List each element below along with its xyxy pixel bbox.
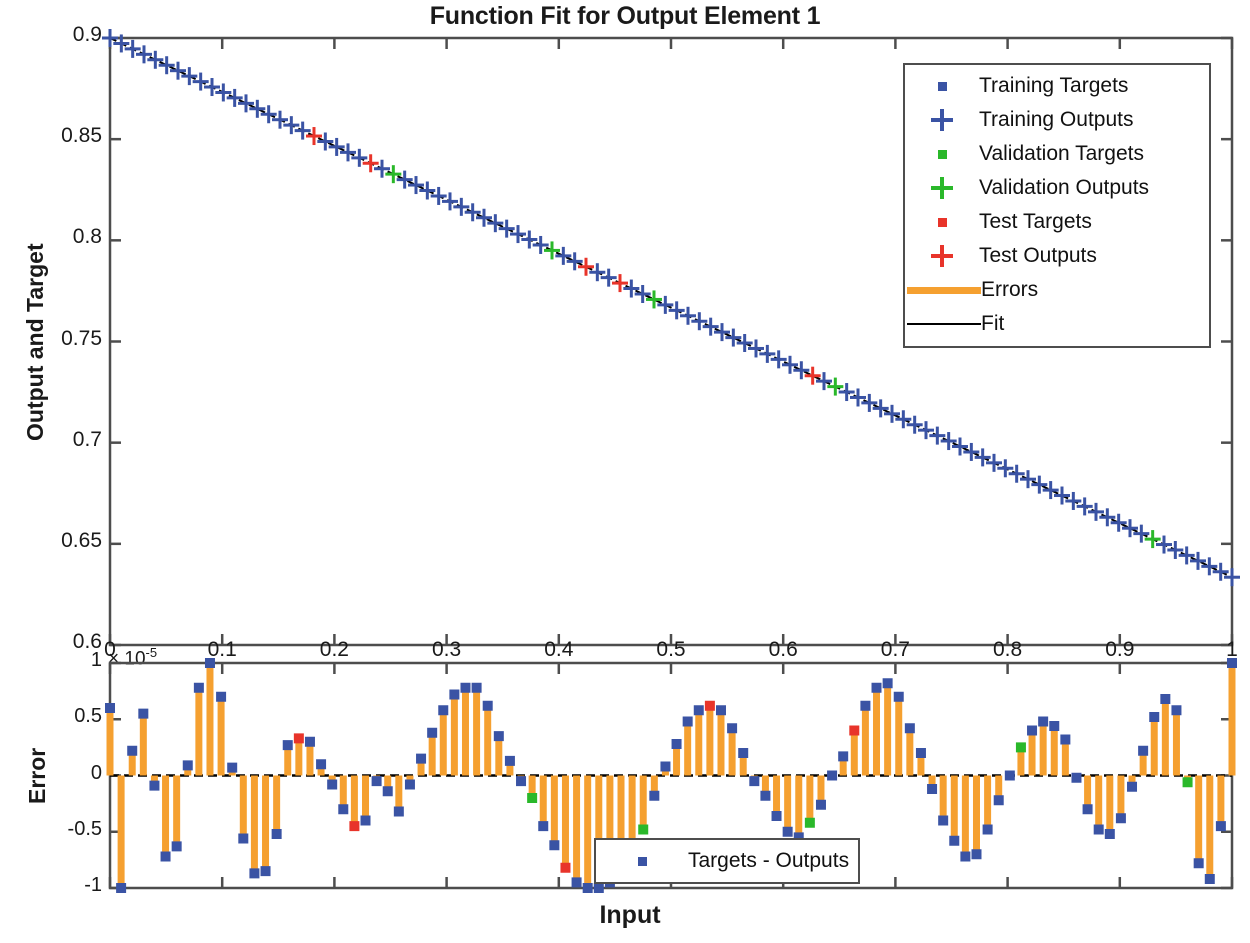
error-bar xyxy=(916,748,926,776)
square-marker-icon xyxy=(938,82,947,91)
error-bar xyxy=(738,748,748,776)
error-ytick--1: -1 xyxy=(6,874,102,897)
input-xtick-0.4: 0.4 xyxy=(519,638,599,662)
error-ytick-0.5: 0.5 xyxy=(6,705,102,728)
error-bar xyxy=(749,776,759,787)
figure-canvas: Function Fit for Output Element 1 Output… xyxy=(0,0,1250,943)
error-bar xyxy=(894,692,904,776)
legend-label: Targets - Outputs xyxy=(688,849,849,873)
error-bar xyxy=(794,776,804,843)
error-bar xyxy=(460,683,470,776)
error-bar xyxy=(983,776,993,835)
error-bar xyxy=(560,776,570,873)
legend-item-targets-outputs[interactable]: Targets - Outputs xyxy=(596,840,858,882)
error-bar xyxy=(938,776,948,826)
error-bar xyxy=(161,776,171,862)
error-bar xyxy=(361,776,371,826)
legend-item-test-targets[interactable]: Test Targets xyxy=(905,205,1209,239)
input-xtick-0.9: 0.9 xyxy=(1080,638,1160,662)
error-bar xyxy=(172,776,182,852)
error-bar xyxy=(472,683,482,776)
error-ytick-0: 0 xyxy=(6,762,102,785)
input-xtick-1: 1 xyxy=(1192,638,1250,662)
legend-item-training-targets[interactable]: Training Targets xyxy=(905,69,1209,103)
error-bar xyxy=(183,760,193,775)
error-bar xyxy=(883,678,893,775)
legend-symbol xyxy=(905,109,979,131)
legend-label: Fit xyxy=(981,312,1004,336)
error-bar xyxy=(772,776,782,822)
error-bar xyxy=(860,701,870,776)
plus-marker-icon xyxy=(931,177,953,199)
error-bar xyxy=(971,776,981,860)
thick-line-icon xyxy=(907,287,981,294)
error-bar xyxy=(383,776,393,797)
error-bar xyxy=(1194,776,1204,869)
error-bar xyxy=(449,690,459,776)
error-bar xyxy=(1227,658,1237,776)
error-bar xyxy=(1138,746,1148,776)
error-bar xyxy=(816,776,826,810)
error-bar xyxy=(516,776,526,787)
input-xtick-0: 0 xyxy=(70,638,150,662)
plus-marker-icon xyxy=(931,109,953,131)
error-bar xyxy=(227,763,237,776)
plus-vertical xyxy=(940,109,944,131)
error-bar xyxy=(872,683,882,776)
legend-symbol xyxy=(905,82,979,91)
error-bar xyxy=(994,776,1004,806)
error-bar xyxy=(238,776,248,844)
legend-symbol xyxy=(905,177,979,199)
error-bar xyxy=(261,776,271,877)
error-bar xyxy=(660,762,670,776)
error-bar xyxy=(649,776,659,801)
error-bar xyxy=(127,746,137,776)
main-ytick-0.7: 0.7 xyxy=(0,428,102,452)
error-bar xyxy=(527,776,537,804)
error-bar xyxy=(349,776,359,832)
error-bar xyxy=(394,776,404,817)
error-bar xyxy=(760,776,770,801)
error-bar xyxy=(272,776,282,840)
legend-item-errors[interactable]: Errors xyxy=(905,273,1209,307)
error-bar xyxy=(583,776,593,894)
error-bar xyxy=(305,737,315,776)
plus-vertical xyxy=(940,177,944,199)
error-bar xyxy=(1127,776,1137,792)
error-bar xyxy=(105,703,115,776)
error-bar xyxy=(1027,726,1037,776)
legend-label: Training Targets xyxy=(979,74,1128,98)
error-bar xyxy=(1071,773,1081,783)
square-marker-icon xyxy=(938,218,947,227)
input-xtick-0.8: 0.8 xyxy=(968,638,1048,662)
error-bar xyxy=(416,754,426,776)
error-bar xyxy=(716,705,726,775)
error-bar xyxy=(1116,776,1126,824)
square-marker-icon xyxy=(938,150,947,159)
square-marker-icon xyxy=(638,857,647,866)
input-xtick-0.3: 0.3 xyxy=(407,638,487,662)
error-bar xyxy=(149,776,159,791)
error-bar xyxy=(572,776,582,888)
error-bar xyxy=(483,701,493,776)
input-xtick-0.1: 0.1 xyxy=(182,638,262,662)
legend-item-validation-outputs[interactable]: Validation Outputs xyxy=(905,171,1209,205)
error-bar xyxy=(1216,776,1226,832)
input-xtick-0.5: 0.5 xyxy=(631,638,711,662)
error-bar xyxy=(1038,717,1048,776)
error-bar xyxy=(960,776,970,862)
error-bar xyxy=(672,739,682,776)
error-bar xyxy=(338,776,348,815)
error-bar xyxy=(372,776,382,787)
main-ytick-0.75: 0.75 xyxy=(0,327,102,351)
error-bar xyxy=(638,776,648,835)
legend-label: Test Outputs xyxy=(979,244,1097,268)
error-bar xyxy=(1149,712,1159,776)
error-bar xyxy=(216,692,226,776)
error-bar xyxy=(705,701,715,776)
legend-label: Validation Outputs xyxy=(979,176,1149,200)
error-bar xyxy=(138,709,148,776)
error-bar xyxy=(1183,776,1193,788)
error-bar xyxy=(683,717,693,776)
legend-symbol xyxy=(596,857,688,866)
legend-symbol xyxy=(905,287,981,294)
main-ytick-0.8: 0.8 xyxy=(0,225,102,249)
error-bar xyxy=(694,705,704,775)
error-bar xyxy=(849,726,859,776)
input-xtick-0.7: 0.7 xyxy=(855,638,935,662)
legend-label: Test Targets xyxy=(979,210,1092,234)
error-bar xyxy=(1016,742,1026,775)
legend-symbol xyxy=(905,323,981,326)
legend-symbol xyxy=(905,245,979,267)
error-bar xyxy=(727,723,737,775)
error-bar xyxy=(194,683,204,776)
error-bar xyxy=(905,723,915,775)
error-bar xyxy=(827,771,837,781)
legend-label: Validation Targets xyxy=(979,142,1144,166)
error-bar xyxy=(283,740,293,775)
error-bar xyxy=(1083,776,1093,815)
legend-label: Errors xyxy=(981,278,1038,302)
error-bar xyxy=(538,776,548,832)
error-ytick--0.5: -0.5 xyxy=(6,818,102,841)
error-bar xyxy=(549,776,559,851)
error-bar xyxy=(1105,776,1115,840)
main-ytick-0.65: 0.65 xyxy=(0,529,102,553)
input-xtick-0.6: 0.6 xyxy=(743,638,823,662)
error-bar xyxy=(1205,776,1215,885)
legend-label: Training Outputs xyxy=(979,108,1133,132)
main-plot-legend[interactable]: Training TargetsTraining OutputsValidati… xyxy=(903,63,1211,348)
error-bar xyxy=(927,776,937,795)
error-bar xyxy=(805,776,815,828)
error-bar xyxy=(783,776,793,837)
legend-item-test-outputs[interactable]: Test Outputs xyxy=(905,239,1209,273)
plus-vertical xyxy=(940,245,944,267)
error-bar xyxy=(494,731,504,775)
legend-symbol xyxy=(905,218,979,227)
error-bar xyxy=(438,705,448,775)
input-xtick-0.2: 0.2 xyxy=(294,638,374,662)
legend-symbol xyxy=(905,150,979,159)
line-icon xyxy=(907,323,981,326)
error-bar xyxy=(1160,694,1170,776)
error-bar xyxy=(1171,705,1181,775)
error-bar xyxy=(1049,721,1059,776)
error-bar xyxy=(116,776,126,894)
error-bar xyxy=(949,776,959,846)
error-bar xyxy=(316,759,326,775)
error-bar xyxy=(205,658,215,776)
error-bar xyxy=(505,756,515,776)
error-bar xyxy=(1060,735,1070,776)
error-bar xyxy=(427,728,437,776)
legend-item-fit[interactable]: Fit xyxy=(905,307,1209,341)
error-bar xyxy=(838,751,848,775)
error-bar xyxy=(249,776,259,879)
error-bar xyxy=(1094,776,1104,835)
error-bar xyxy=(294,733,304,775)
error-bar xyxy=(405,776,415,790)
legend-item-validation-targets[interactable]: Validation Targets xyxy=(905,137,1209,171)
error-bar xyxy=(1005,771,1015,781)
main-ytick-0.85: 0.85 xyxy=(0,124,102,148)
plus-marker-icon xyxy=(931,245,953,267)
main-ytick-0.9: 0.9 xyxy=(0,23,102,47)
error-plot-legend[interactable]: Targets - Outputs xyxy=(594,838,860,884)
error-bar xyxy=(327,776,337,790)
legend-item-training-outputs[interactable]: Training Outputs xyxy=(905,103,1209,137)
